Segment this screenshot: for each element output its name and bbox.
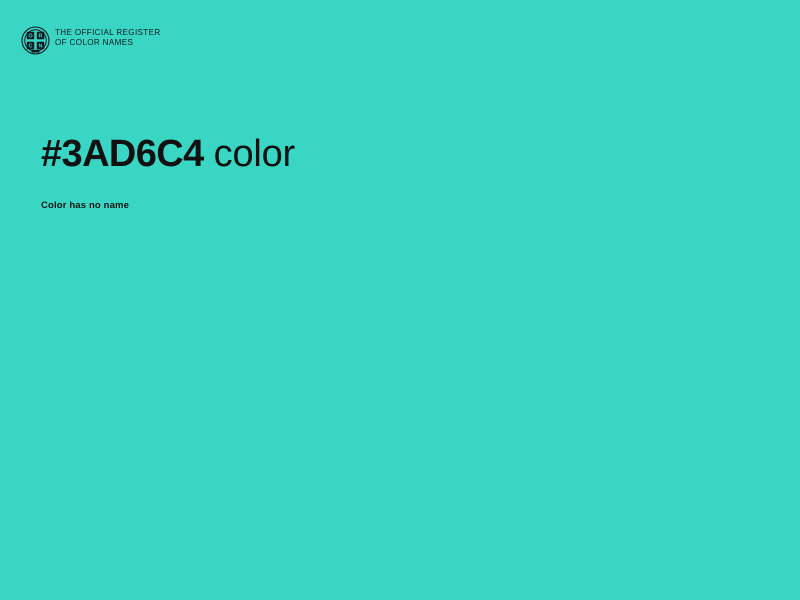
page-title: #3AD6C4 color <box>41 131 295 177</box>
color-name-status: Color has no name <box>41 199 129 212</box>
register-seal-icon: O R C N <box>21 26 50 55</box>
brand-title-line-1: THE OFFICIAL REGISTER <box>55 28 161 38</box>
brand-title-line-2: OF COLOR NAMES <box>55 38 161 48</box>
site-brand[interactable]: O R C N THE OFFICIAL REGISTER OF COLOR N… <box>21 26 161 55</box>
brand-title: THE OFFICIAL REGISTER OF COLOR NAMES <box>55 26 161 47</box>
color-detail-page: O R C N THE OFFICIAL REGISTER OF COLOR N… <box>0 0 800 600</box>
svg-text:N: N <box>39 44 43 50</box>
svg-text:R: R <box>39 34 43 40</box>
page-title-hex: #3AD6C4 <box>41 133 204 175</box>
page-title-suffix: color <box>214 133 295 175</box>
svg-text:O: O <box>28 34 33 40</box>
svg-text:C: C <box>29 44 33 50</box>
